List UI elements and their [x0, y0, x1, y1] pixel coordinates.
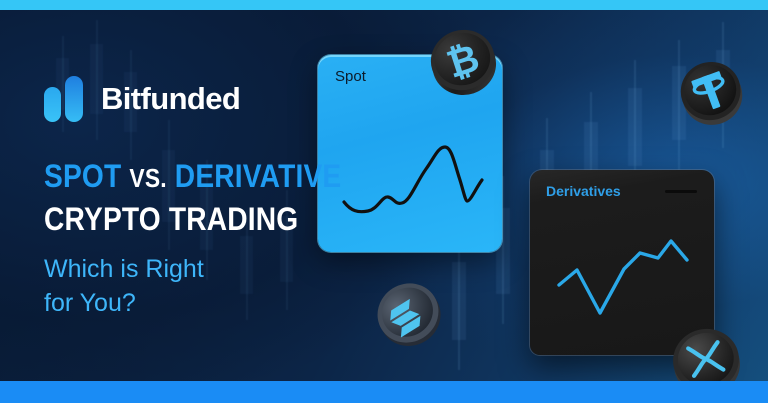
headline-line-1: SPOT VS. DERIVATIVE [44, 160, 341, 192]
spot-card-title: Spot [335, 68, 366, 85]
derivatives-card-title: Derivatives [546, 183, 621, 199]
bitcoin-coin-icon: ₿ [427, 24, 499, 98]
headline-vs: VS. [129, 163, 166, 193]
headline-line-2: CRYPTO TRADING [44, 203, 341, 235]
brand-name: Bitfunded [101, 81, 240, 117]
headline-subline-2: for You? [44, 287, 382, 319]
bitfunded-bars-logo-icon [44, 76, 88, 122]
brand-logo[interactable]: Bitfunded [44, 76, 240, 122]
headline-derivative: DERIVATIVE [175, 158, 342, 194]
top-accent-bar [0, 0, 768, 10]
headline-subline-1: Which is Right [44, 253, 382, 285]
solana-coin-icon [371, 276, 445, 350]
tether-coin-icon [676, 56, 746, 128]
promo-banner: Bitfunded SPOT VS. DERIVATIVE CRYPTO TRA… [0, 0, 768, 403]
derivatives-card-dash-icon [665, 190, 697, 193]
headline-block: SPOT VS. DERIVATIVE CRYPTO TRADING Which… [44, 160, 382, 319]
bottom-accent-bar [0, 381, 768, 403]
headline-spot: SPOT [44, 158, 121, 194]
